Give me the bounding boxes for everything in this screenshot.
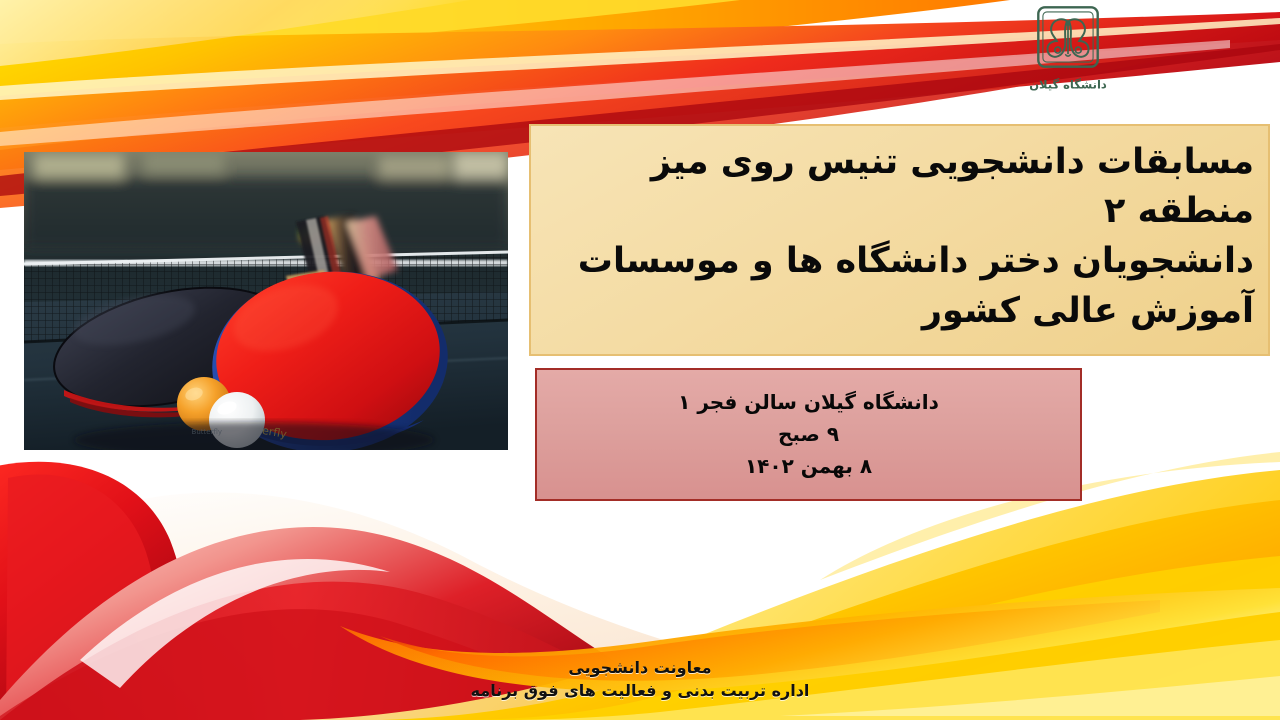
svg-text:دانشگاه گیلان: دانشگاه گیلان <box>1029 77 1107 91</box>
university-logo-caption: دانشگاه گیلان <box>1022 72 1114 94</box>
university-of-guilan-emblem-icon <box>1035 4 1101 70</box>
poster-canvas: Butterfly Butterfly مسابقات دانشجویی تنی… <box>0 0 1280 720</box>
university-logo: دانشگاه گیلان <box>1020 4 1116 104</box>
event-info-box: دانشگاه گیلان سالن فجر ۱ ۹ صبح ۸ بهمن ۱۴… <box>535 368 1082 501</box>
table-tennis-photo: Butterfly Butterfly <box>24 152 508 450</box>
organizer-footer: معاونت دانشجویی اداره تربیت بدنی و فعالی… <box>0 656 1280 702</box>
event-title-box: مسابقات دانشجویی تنیس روی میز منطقه ۲ دا… <box>529 124 1270 356</box>
info-date: ۸ بهمن ۱۴۰۲ <box>745 451 872 482</box>
footer-line-deputy: معاونت دانشجویی <box>0 656 1280 679</box>
event-title-text: مسابقات دانشجویی تنیس روی میز منطقه ۲ دا… <box>545 138 1254 337</box>
table-tennis-illustration: Butterfly Butterfly <box>24 152 508 450</box>
info-time: ۹ صبح <box>778 419 839 450</box>
info-venue: دانشگاه گیلان سالن فجر ۱ <box>678 387 939 418</box>
footer-line-department: اداره تربیت بدنی و فعالیت های فوق برنامه <box>0 679 1280 702</box>
